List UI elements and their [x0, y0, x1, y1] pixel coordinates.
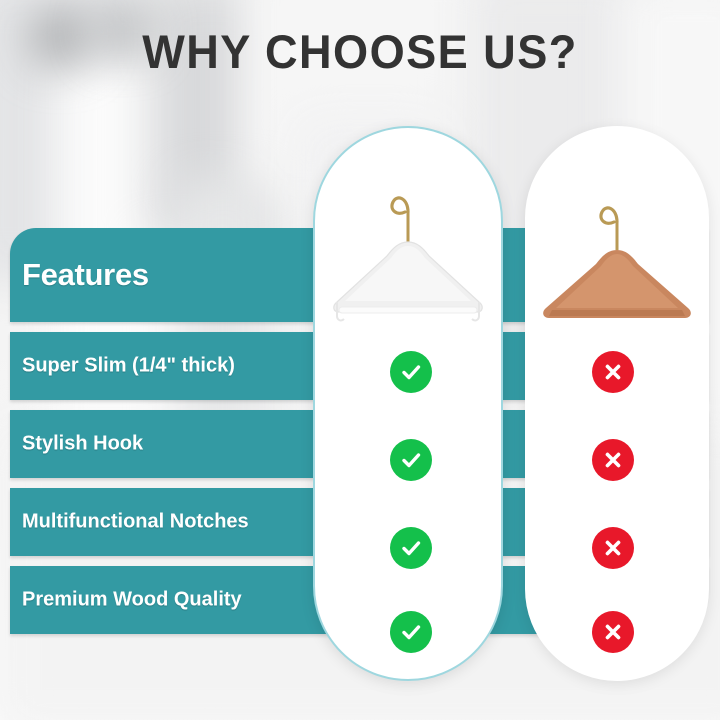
- white-hanger-image: [315, 150, 501, 360]
- cross-circle-icon: [592, 527, 634, 569]
- check-circle-icon: [390, 351, 432, 393]
- check-circle-icon: [390, 527, 432, 569]
- product-card-competitor-hanger: [525, 126, 709, 681]
- check-circle-icon: [390, 439, 432, 481]
- feature-label: Super Slim (1/4" thick): [22, 355, 235, 378]
- white-hanger-illustration: [323, 150, 493, 350]
- cross-circle-icon: [592, 611, 634, 653]
- wooden-hanger-illustration: [532, 150, 702, 350]
- cross-circle-icon: [592, 439, 634, 481]
- cross-circle-icon: [592, 351, 634, 393]
- page-title: WHY CHOOSE US?: [14, 28, 705, 75]
- product-card-our-hanger: [313, 126, 503, 681]
- wooden-hanger-image: [527, 150, 707, 360]
- feature-label: Multifunctional Notches: [22, 511, 249, 534]
- features-header-label: Features: [22, 257, 149, 293]
- feature-label: Premium Wood Quality: [22, 589, 242, 612]
- feature-label: Stylish Hook: [22, 433, 143, 456]
- comparison-infographic: WHY CHOOSE US? Features Super Slim (1/4"…: [0, 0, 720, 720]
- check-circle-icon: [390, 611, 432, 653]
